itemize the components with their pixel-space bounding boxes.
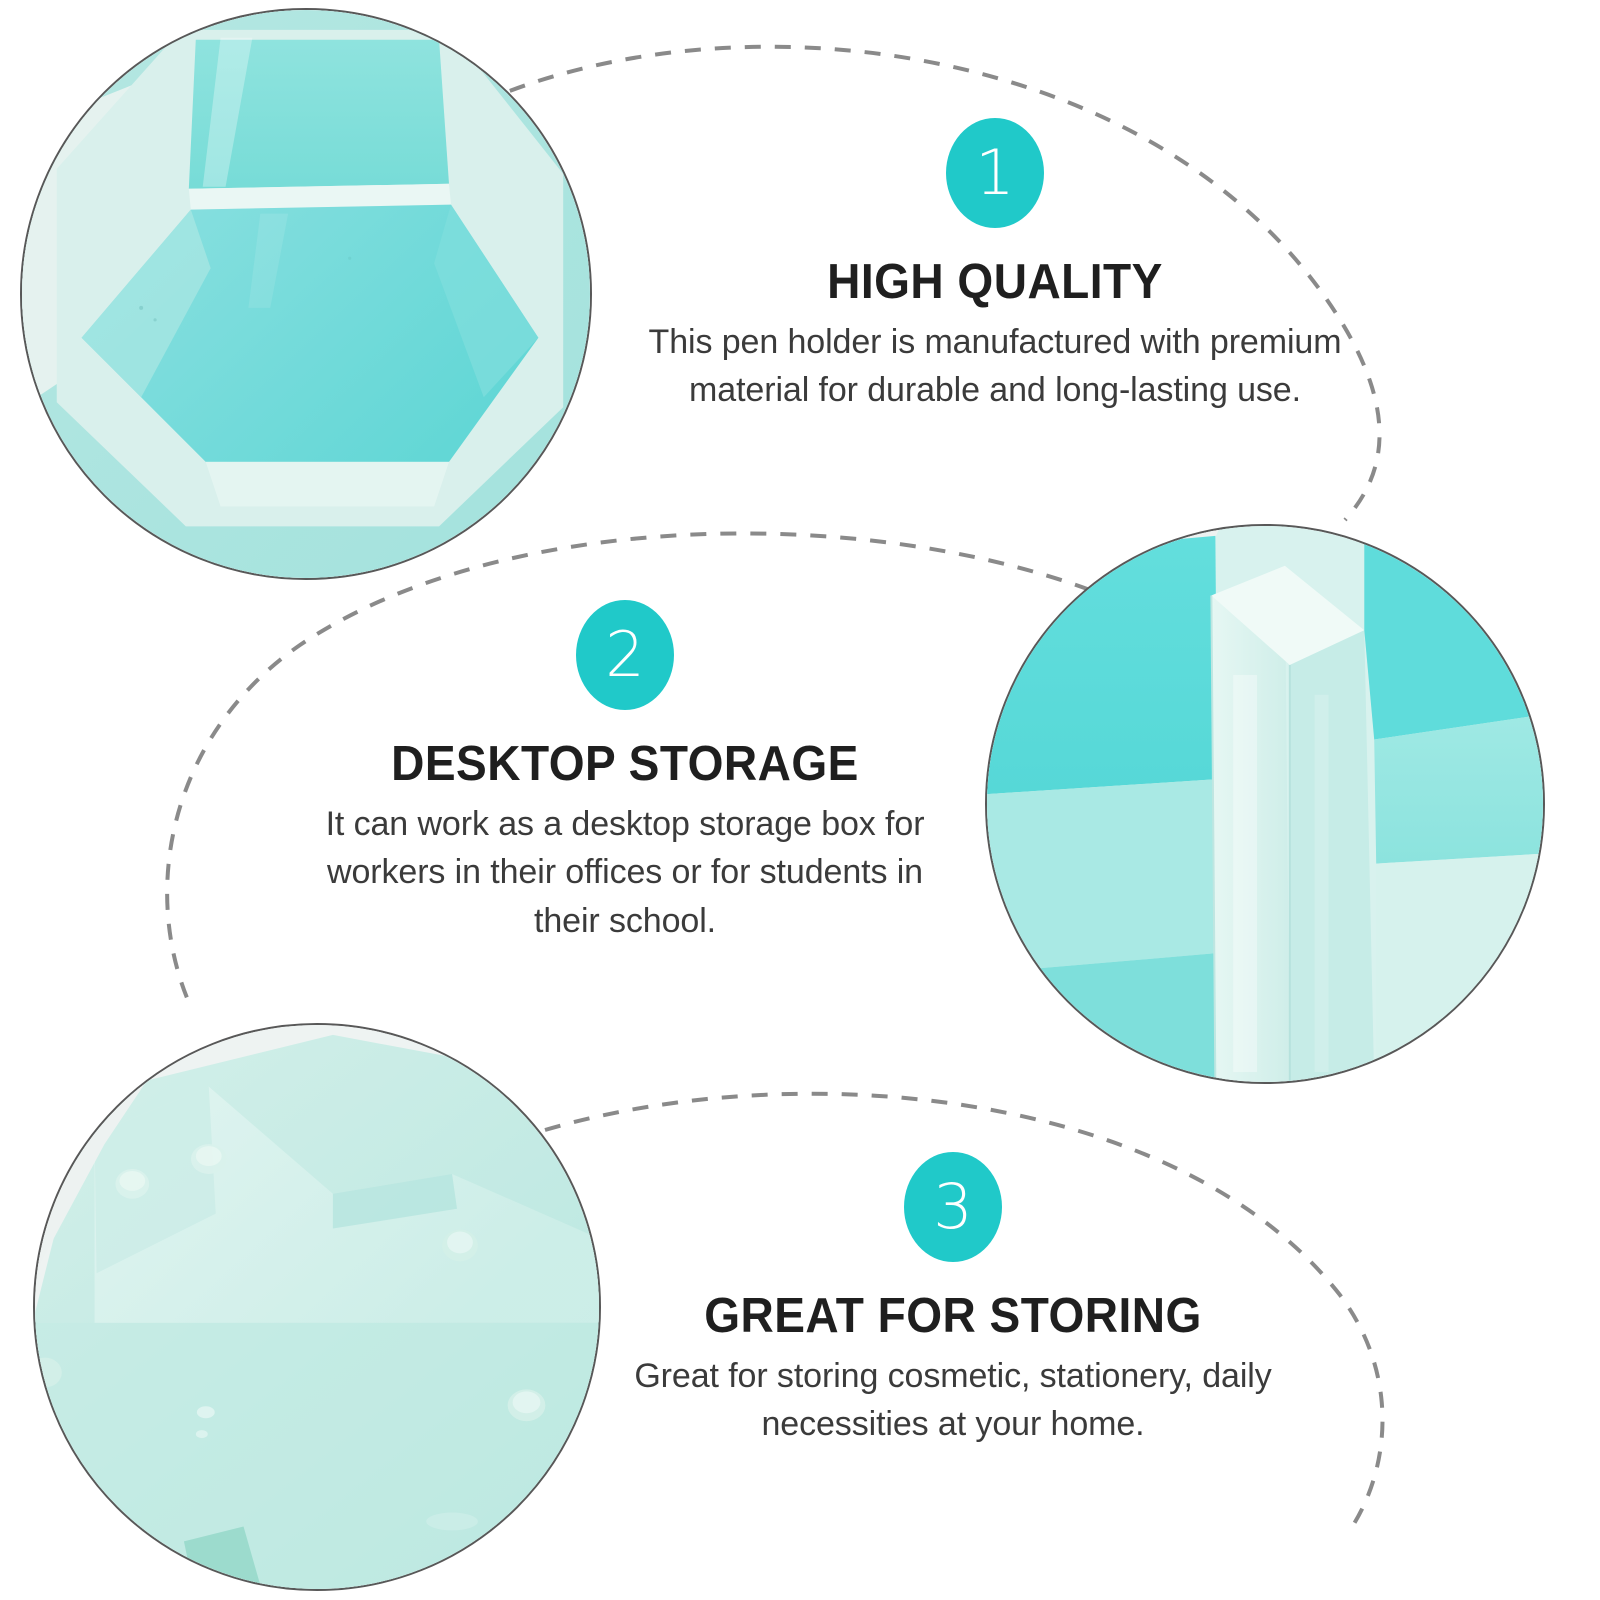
feature-title-3: GREAT FOR STORING bbox=[539, 1288, 1366, 1344]
feature-block-3: 3 GREAT FOR STORING Great for storing co… bbox=[513, 1152, 1393, 1449]
feature-title-2: DESKTOP STORAGE bbox=[211, 736, 1038, 792]
feature-body-line: their school. bbox=[185, 897, 1065, 945]
feature-block-1: 1 HIGH QUALITY This pen holder is manufa… bbox=[580, 118, 1410, 415]
feature-body-2: It can work as a desktop storage box for… bbox=[185, 800, 1065, 945]
step-badge-2: 2 bbox=[576, 600, 674, 710]
feature-body-3: Great for storing cosmetic, stationery, … bbox=[513, 1352, 1393, 1449]
feature-block-2: 2 DESKTOP STORAGE It can work as a deskt… bbox=[185, 600, 1065, 945]
feature-body-line: It can work as a desktop storage box for bbox=[185, 800, 1065, 848]
product-photo-top-view bbox=[20, 8, 592, 580]
feature-body-line: Great for storing cosmetic, stationery, … bbox=[513, 1352, 1393, 1400]
step-badge-3: 3 bbox=[904, 1152, 1002, 1262]
feature-body-line: workers in their offices or for students… bbox=[185, 848, 1065, 896]
feature-body-1: This pen holder is manufactured with pre… bbox=[580, 318, 1410, 415]
feature-body-line: material for durable and long-lasting us… bbox=[580, 366, 1410, 414]
infographic-canvas: 1 HIGH QUALITY This pen holder is manufa… bbox=[0, 0, 1600, 1600]
feature-body-line: This pen holder is manufactured with pre… bbox=[580, 318, 1410, 366]
feature-title-1: HIGH QUALITY bbox=[605, 254, 1385, 310]
feature-body-line: necessities at your home. bbox=[513, 1400, 1393, 1448]
product-photo-divider-detail bbox=[985, 524, 1545, 1084]
step-badge-1: 1 bbox=[946, 118, 1044, 228]
